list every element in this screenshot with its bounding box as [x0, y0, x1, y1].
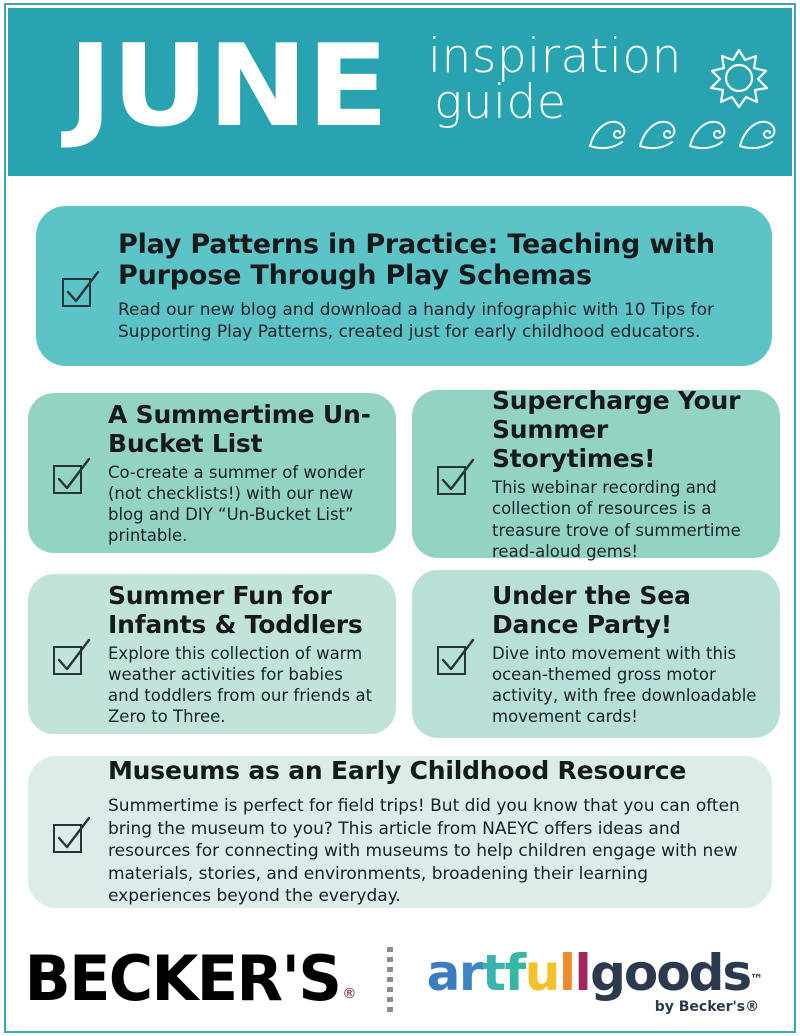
card-check-column [36, 206, 118, 366]
page-title-month: JUNE [68, 30, 388, 143]
card-body: Under the Sea Dance Party! Dive into mov… [492, 570, 780, 738]
card-check-column [412, 570, 492, 738]
artful-letter-l-first: l [559, 948, 575, 998]
waves-icon [588, 110, 792, 154]
artful-letter-a: a [427, 948, 459, 998]
artful-goods-word: goods [590, 948, 750, 998]
beckers-logo: BECKER'S® [24, 949, 359, 1012]
beckers-registered-mark: ® [342, 986, 354, 1003]
checkbox-checked-icon [434, 638, 476, 680]
artful-byline: by Becker's® [655, 1000, 759, 1014]
card-title: Museums as an Early Childhood Resource [108, 756, 746, 785]
artful-letter-r: r [459, 948, 482, 998]
resource-card-un-bucket-list[interactable]: A Summertime Un-Bucket List Co-create a … [28, 393, 396, 553]
artful-trademark-mark: ™ [750, 973, 763, 988]
resource-card-summer-storytimes[interactable]: Supercharge Your Summer Storytimes! This… [412, 390, 780, 558]
artful-letter-f: f [504, 948, 524, 998]
resource-card-under-the-sea[interactable]: Under the Sea Dance Party! Dive into mov… [412, 570, 780, 738]
beckers-logo-text: BECKER'S [24, 943, 340, 1016]
card-description: Co-create a summer of wonder (not checkl… [108, 462, 378, 546]
checkbox-checked-icon [50, 816, 92, 858]
inspiration-guide-page: JUNE inspiration guide [0, 0, 800, 1036]
card-body: Supercharge Your Summer Storytimes! This… [492, 390, 780, 558]
checkbox-checked-icon [50, 457, 92, 499]
resource-card-play-patterns[interactable]: Play Patterns in Practice: Teaching with… [36, 206, 772, 366]
logo-divider [387, 947, 393, 1013]
checkbox-checked-icon [434, 458, 476, 500]
card-description: Dive into movement with this ocean-theme… [492, 643, 762, 727]
resource-card-infants-toddlers[interactable]: Summer Fun for Infants & Toddlers Explor… [28, 574, 396, 734]
card-description: Summertime is perfect for field trips! B… [108, 795, 746, 908]
card-check-column [28, 393, 108, 553]
card-title: Summer Fun for Infants & Toddlers [108, 581, 378, 639]
card-title: Supercharge Your Summer Storytimes! [492, 386, 762, 473]
card-body: Museums as an Early Childhood Resource S… [108, 756, 772, 908]
card-check-column [28, 756, 108, 908]
card-body: Summer Fun for Infants & Toddlers Explor… [108, 574, 396, 734]
card-title: A Summertime Un-Bucket List [108, 400, 378, 458]
artful-letter-u: u [525, 948, 559, 998]
card-body: A Summertime Un-Bucket List Co-create a … [108, 393, 396, 553]
artfulgoods-logo: artfullgoods™ by Becker's® [427, 948, 764, 1012]
card-title: Under the Sea Dance Party! [492, 581, 762, 639]
card-description: This webinar recording and collection of… [492, 477, 762, 561]
card-description: Read our new blog and download a handy i… [118, 299, 754, 343]
footer-logos: BECKER'S® artfullgoods™ by Becker's® [0, 932, 800, 1028]
card-title: Play Patterns in Practice: Teaching with… [118, 229, 754, 292]
artful-letter-t: t [482, 948, 504, 998]
artful-letter-l-second: l [574, 948, 590, 998]
card-check-column [28, 574, 108, 734]
card-check-column [412, 390, 492, 558]
resource-card-museums[interactable]: Museums as an Early Childhood Resource S… [28, 756, 772, 908]
header-banner: JUNE inspiration guide [8, 8, 792, 176]
checkbox-checked-icon [59, 270, 101, 312]
sun-icon [704, 43, 774, 113]
card-description: Explore this collection of warm weather … [108, 643, 378, 727]
checkbox-checked-icon [50, 638, 92, 680]
card-body: Play Patterns in Practice: Teaching with… [118, 206, 772, 366]
